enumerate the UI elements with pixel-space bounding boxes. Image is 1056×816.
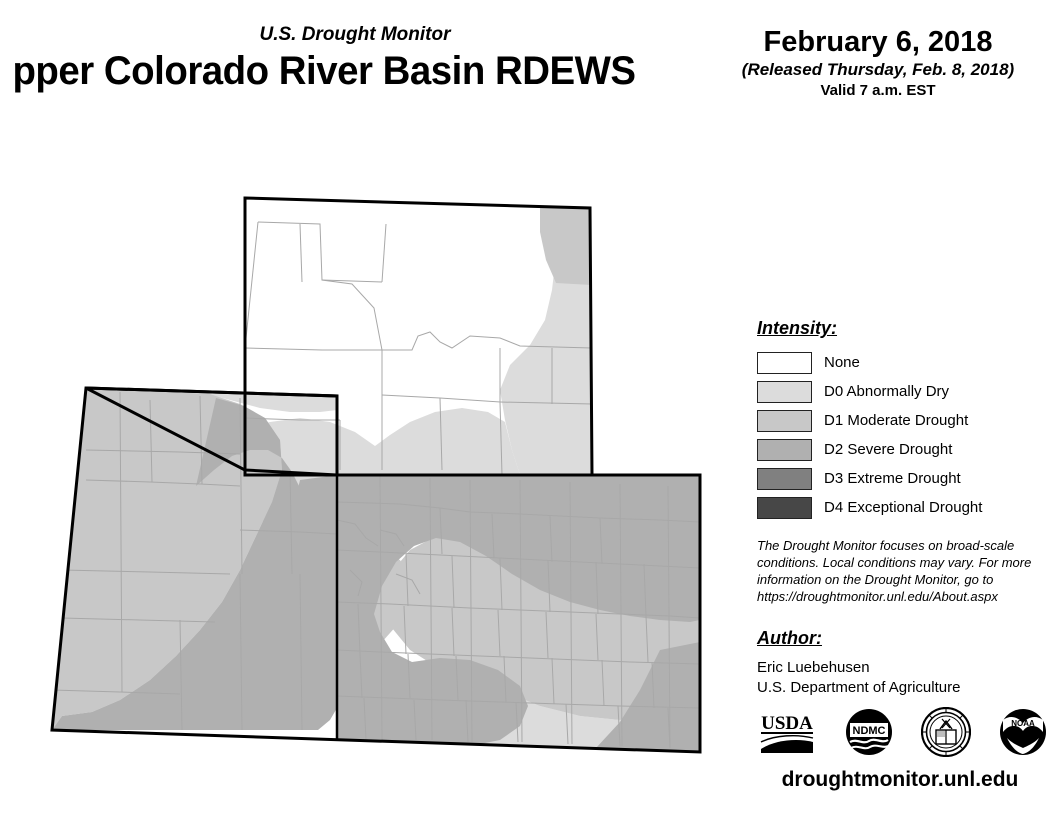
date-block: February 6, 2018 (Released Thursday, Feb… <box>700 26 1056 101</box>
website-url[interactable]: droughtmonitor.unl.edu <box>745 768 1055 792</box>
author-name: Eric Luebehusen <box>757 658 1047 678</box>
title-block: U.S. Drought Monitor pper Colorado River… <box>0 22 710 94</box>
legend-title: Intensity: <box>757 318 1047 339</box>
page-header: U.S. Drought Monitor pper Colorado River… <box>0 0 1056 130</box>
disclaimer-text: The Drought Monitor focuses on broad-sca… <box>757 537 1029 605</box>
legend-swatch-d3 <box>757 468 812 490</box>
logo-row: USDA NDMC <box>757 707 1047 761</box>
legend-label-d4: D4 Exceptional Drought <box>824 499 982 516</box>
disclaimer-line-3: information on the Drought Monitor, go t… <box>757 571 1029 588</box>
legend-item-d3[interactable]: D3 Extreme Drought <box>757 464 1047 493</box>
svg-text:NDMC: NDMC <box>853 725 886 737</box>
disclaimer-url[interactable]: https://droughtmonitor.unl.edu/About.asp… <box>757 588 1029 605</box>
usda-logo[interactable]: USDA <box>757 709 817 760</box>
legend-swatch-d4 <box>757 497 812 519</box>
legend-label-d1: D1 Moderate Drought <box>824 412 968 429</box>
disclaimer-line-2: conditions. Local conditions may vary. F… <box>757 554 1029 571</box>
legend-label-d0: D0 Abnormally Dry <box>824 383 949 400</box>
legend-item-d1[interactable]: D1 Moderate Drought <box>757 406 1047 435</box>
disclaimer-line-1: The Drought Monitor focuses on broad-sca… <box>757 537 1029 554</box>
release-date: (Released Thursday, Feb. 8, 2018) <box>700 59 1056 81</box>
legend-swatch-d0 <box>757 381 812 403</box>
drought-monitor-page: U.S. Drought Monitor pper Colorado River… <box>0 0 1056 816</box>
legend-swatch-d2 <box>757 439 812 461</box>
valid-date: February 6, 2018 <box>700 26 1056 59</box>
legend-item-d0[interactable]: D0 Abnormally Dry <box>757 377 1047 406</box>
legend: Intensity: None D0 Abnormally Dry D1 Mod… <box>757 318 1047 522</box>
page-title: pper Colorado River Basin RDEWS <box>0 48 695 94</box>
legend-label-d2: D2 Severe Drought <box>824 441 952 458</box>
ndmc-logo[interactable]: NDMC <box>845 708 893 761</box>
author-block: Author: Eric Luebehusen U.S. Department … <box>757 628 1047 698</box>
legend-item-none[interactable]: None <box>757 348 1047 377</box>
legend-swatch-none <box>757 352 812 374</box>
valid-time: Valid 7 a.m. EST <box>700 81 1056 101</box>
university-seal-logo[interactable] <box>921 707 971 762</box>
legend-swatch-d1 <box>757 410 812 432</box>
author-title: Author: <box>757 628 1047 649</box>
legend-label-none: None <box>824 354 860 371</box>
svg-text:USDA: USDA <box>761 713 813 734</box>
author-organization: U.S. Department of Agriculture <box>757 678 1047 698</box>
legend-label-d3: D3 Extreme Drought <box>824 470 961 487</box>
noaa-logo[interactable]: NOAA <box>999 708 1047 761</box>
drought-map[interactable] <box>0 150 740 780</box>
svg-text:NOAA: NOAA <box>1011 719 1035 728</box>
legend-item-d2[interactable]: D2 Severe Drought <box>757 435 1047 464</box>
legend-item-d4[interactable]: D4 Exceptional Drought <box>757 493 1047 522</box>
page-subtitle: U.S. Drought Monitor <box>0 22 710 48</box>
